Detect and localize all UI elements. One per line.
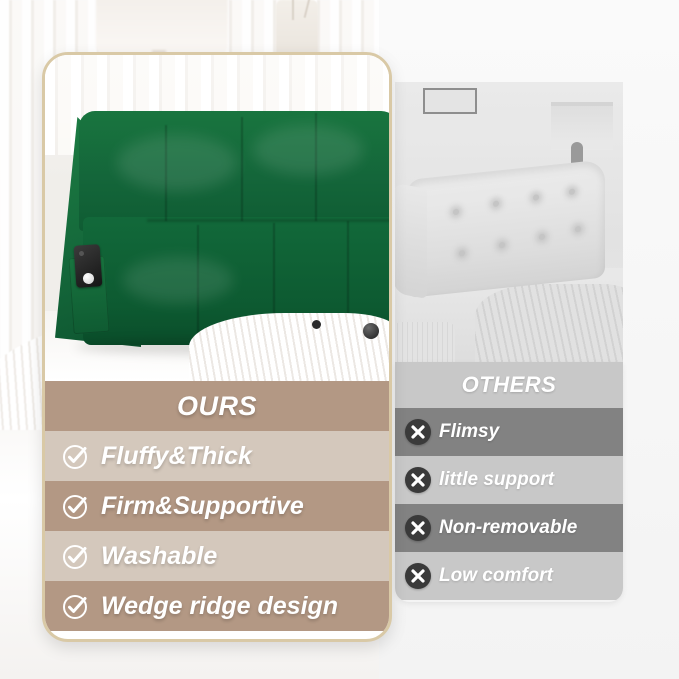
- pillow-vertical-seam: [241, 117, 243, 221]
- ours-row: Wedge ridge design: [45, 581, 389, 631]
- others-row: Low comfort: [395, 552, 623, 600]
- ours-photo: [45, 55, 389, 381]
- others-row: Non-removable: [395, 504, 623, 552]
- ours-feature-label: Wedge ridge design: [101, 592, 338, 621]
- others-feature-label: Flimsy: [439, 421, 499, 443]
- ours-title: OURS: [177, 391, 257, 422]
- others-photo: [395, 82, 623, 364]
- pillow-highlight: [123, 257, 233, 303]
- others-row: Flimsy: [395, 408, 623, 456]
- ours-row: Fluffy&Thick: [45, 431, 389, 481]
- ours-feature-table: OURS Fluffy&Thick Firm: [45, 381, 389, 631]
- background-flower-stem: [292, 0, 294, 20]
- others-header-band: OTHERS: [395, 362, 623, 408]
- others-photo-wall-art: [423, 88, 477, 114]
- check-circle-icon: [61, 441, 91, 471]
- others-title: OTHERS: [462, 372, 557, 398]
- x-circle-icon: [405, 515, 431, 541]
- others-comparison-panel: OTHERS Flimsy little support: [395, 362, 623, 602]
- others-photo-blanket: [475, 284, 623, 364]
- ours-photo-bed-knob: [363, 323, 379, 339]
- ours-header-band: OURS: [45, 381, 389, 431]
- ours-feature-label: Firm&Supportive: [101, 492, 304, 521]
- check-circle-icon: [61, 591, 91, 621]
- others-photo-nightstand: [395, 322, 455, 364]
- others-photo-shelf: [551, 104, 613, 150]
- x-circle-icon: [405, 419, 431, 445]
- pillow-highlight: [253, 125, 363, 175]
- ours-photo-blanket: [189, 313, 389, 381]
- ours-feature-label: Fluffy&Thick: [101, 442, 252, 471]
- others-photo-shelf-edge: [551, 102, 613, 106]
- pillow-highlight: [117, 135, 237, 191]
- others-feature-label: Low comfort: [439, 565, 553, 587]
- ours-feature-label: Washable: [101, 542, 217, 571]
- comparison-graphic: OTHERS Flimsy little support: [0, 0, 679, 679]
- others-pillow-side-panel: [395, 183, 427, 299]
- others-photo-wedge-pillow: [397, 159, 609, 305]
- others-feature-label: Non-removable: [439, 517, 577, 539]
- others-feature-label: little support: [439, 469, 554, 491]
- check-circle-icon: [61, 541, 91, 571]
- ours-row: Washable: [45, 531, 389, 581]
- x-circle-icon: [405, 467, 431, 493]
- pillow-horizontal-seam: [147, 219, 389, 222]
- check-circle-icon: [61, 491, 91, 521]
- ours-photo-bed-knob: [312, 320, 321, 329]
- x-circle-icon: [405, 563, 431, 589]
- ours-row: Firm&Supportive: [45, 481, 389, 531]
- background-lamp-shade: [96, 0, 228, 56]
- ours-comparison-card: OURS Fluffy&Thick Firm: [42, 52, 392, 642]
- others-row: little support: [395, 456, 623, 504]
